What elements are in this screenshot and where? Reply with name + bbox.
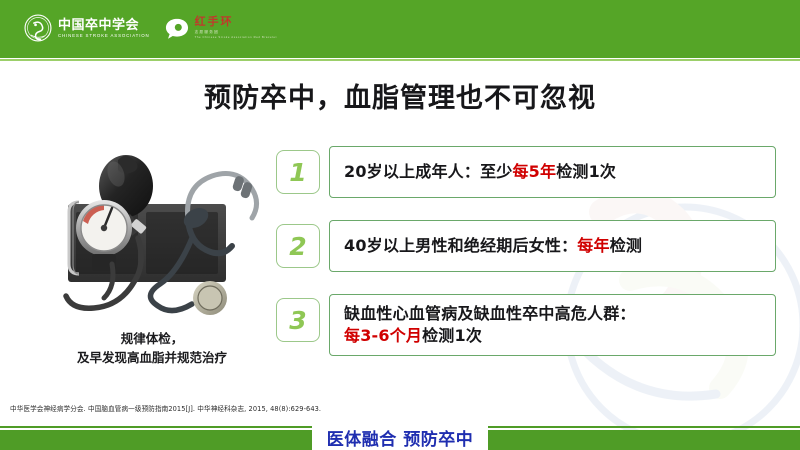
caption-line-2: 及早发现高血脂并规范治疗 xyxy=(26,349,278,368)
item-text: 40岁以上男性和绝经期后女性：每年检测 xyxy=(344,235,642,257)
header-logos: 中国卒中学会 CHINESE STROKE ASSOCIATION 红手环 志愿… xyxy=(24,14,277,42)
footer-hairline-right xyxy=(488,426,800,428)
item-content-box: 40岁以上男性和绝经期后女性：每年检测 xyxy=(329,220,776,272)
csa-name-en: CHINESE STROKE ASSOCIATION xyxy=(58,34,150,38)
footer-block-left xyxy=(0,430,312,450)
item-text-line: 缺血性心血管病及缺血性卒中高危人群： xyxy=(344,303,636,325)
recommendation-list: 1 20岁以上成年人：至少每5年检测1次 2 40岁以上男性和绝经期后女性：每年… xyxy=(276,146,776,356)
logo-chinese-stroke-association: 中国卒中学会 CHINESE STROKE ASSOCIATION xyxy=(24,14,150,42)
hsh-sub-en: The Chinese Stroke Association Red Brace… xyxy=(195,36,277,39)
item-text-segment: 20岁以上成年人：至少 xyxy=(344,162,512,181)
slide-root: 中国卒中学会 CHINESE STROKE ASSOCIATION 红手环 志愿… xyxy=(0,0,800,450)
item-content-box: 缺血性心血管病及缺血性卒中高危人群： 每3-6个月检测1次 xyxy=(329,294,776,356)
item-text-highlight: 每5年 xyxy=(512,162,556,181)
item-content-box: 20岁以上成年人：至少每5年检测1次 xyxy=(329,146,776,198)
stroke-association-seal-icon xyxy=(24,14,52,42)
footer-hairline-left xyxy=(0,426,312,428)
footer-slogan: 医体融合 预防卒中 xyxy=(312,424,488,450)
item-text-segment: 检测1次 xyxy=(556,162,616,181)
item-number-badge: 3 xyxy=(276,298,320,342)
source-citation: 中华医学会神经病学分会. 中国脑血管病一级预防指南2015[J]. 中华神经科杂… xyxy=(10,403,610,413)
item-number-badge: 1 xyxy=(276,150,320,194)
item-text-segment: 检测1次 xyxy=(422,326,482,345)
badge-spacer xyxy=(320,146,329,198)
red-bracelet-speech-bubble-icon xyxy=(164,15,190,41)
item-text: 20岁以上成年人：至少每5年检测1次 xyxy=(344,161,616,183)
logo-red-bracelet: 红手环 志愿服务团 The Chinese Stroke Association… xyxy=(164,15,277,41)
illustration-caption: 规律体检， 及早发现高血脂并规范治疗 xyxy=(26,330,278,368)
hsh-sub-cn: 志愿服务团 xyxy=(195,31,277,35)
csa-name-cn: 中国卒中学会 xyxy=(58,18,150,31)
badge-spacer xyxy=(320,294,329,356)
hsh-name-cn: 红手环 xyxy=(195,17,277,28)
list-item: 3 缺血性心血管病及缺血性卒中高危人群： 每3-6个月检测1次 xyxy=(276,294,776,356)
item-text-highlight: 每年 xyxy=(577,236,609,255)
item-text: 缺血性心血管病及缺血性卒中高危人群： 每3-6个月检测1次 xyxy=(344,303,636,347)
item-text-highlight: 每3-6个月 xyxy=(344,326,422,345)
item-text-segment: 缺血性心血管病及缺血性卒中高危人群： xyxy=(344,304,636,323)
list-item: 2 40岁以上男性和绝经期后女性：每年检测 xyxy=(276,220,776,272)
item-text-segment: 检测 xyxy=(610,236,642,255)
badge-spacer xyxy=(320,220,329,272)
header-divider xyxy=(0,58,800,62)
red-bracelet-logo-text: 红手环 志愿服务团 The Chinese Stroke Association… xyxy=(195,17,277,38)
footer-bar: 医体融合 预防卒中 xyxy=(0,424,800,450)
blood-pressure-monitor-icon xyxy=(46,146,270,328)
csa-logo-text: 中国卒中学会 CHINESE STROKE ASSOCIATION xyxy=(58,18,150,38)
page-title: 预防卒中，血脂管理也不可忽视 xyxy=(0,76,800,115)
item-text-segment: 40岁以上男性和绝经期后女性： xyxy=(344,236,577,255)
item-number-badge: 2 xyxy=(276,224,320,268)
caption-line-1: 规律体检， xyxy=(26,330,278,349)
list-item: 1 20岁以上成年人：至少每5年检测1次 xyxy=(276,146,776,198)
item-text-line: 每3-6个月检测1次 xyxy=(344,325,636,347)
footer-block-right xyxy=(488,430,800,450)
